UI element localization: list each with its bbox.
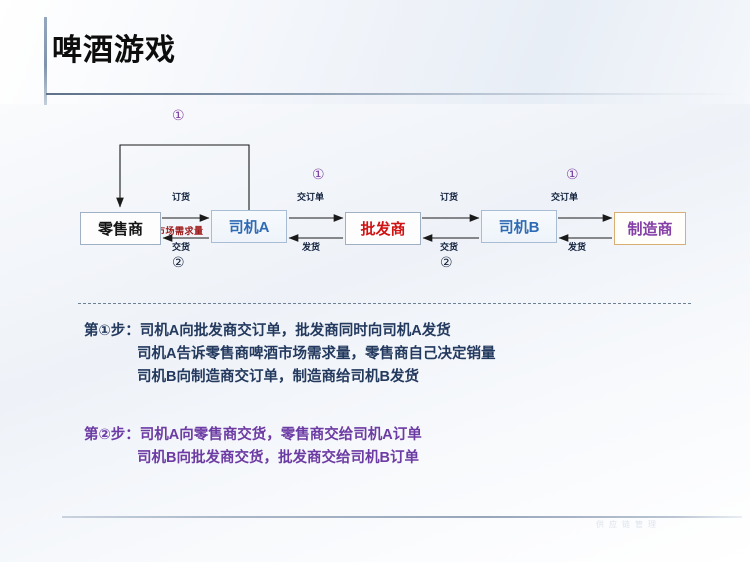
node-driver-b[interactable]: 司机B [481, 210, 557, 243]
arrow-label-driver-a-order-form: 交订单 [297, 190, 324, 203]
node-manufacturer[interactable]: 制造商 [614, 212, 686, 245]
section-divider [78, 303, 691, 304]
slide-canvas: 啤酒游戏 [0, 0, 750, 562]
node-wholesaler[interactable]: 批发商 [345, 212, 421, 245]
footer-watermark: 供应链管理 [596, 519, 661, 530]
step-two-block: 第②步：司机A向零售商交货，零售商交给司机A订单 司机B向批发商交货，批发商交给… [84, 424, 422, 470]
step-marker-deliver-b-two: ② [440, 255, 453, 271]
arrow-label-wholesaler-order: 订货 [440, 190, 458, 203]
arrow-label-retailer-order: 订货 [172, 190, 190, 203]
step-two-text-1: 司机A向零售商交货，零售商交给司机A订单 [140, 427, 422, 443]
step-marker-order-b-one: ① [566, 167, 579, 183]
step-marker-demand-one: ① [172, 108, 185, 124]
step-one-line-1: 第①步：司机A向批发商交订单，批发商同时向司机A发货 [84, 320, 495, 343]
arrow-label-retailer-delivery: 交货 [172, 240, 190, 253]
step-one-text-1: 司机A向批发商交订单，批发商同时向司机A发货 [140, 323, 451, 339]
page-title: 啤酒游戏 [52, 25, 176, 69]
node-retailer[interactable]: 零售商 [80, 212, 161, 245]
step-one-line-2: 司机A告诉零售商啤酒市场需求量，零售商自己决定销量 [84, 343, 495, 366]
step-two-line-1: 第②步：司机A向零售商交货，零售商交给司机A订单 [84, 424, 422, 447]
step-one-block: 第①步：司机A向批发商交订单，批发商同时向司机A发货 司机A告诉零售商啤酒市场需… [84, 320, 495, 389]
arrow-label-driver-b-order-form: 交订单 [551, 190, 578, 203]
footer-divider [62, 516, 742, 518]
step-marker-deliver-a-two: ② [172, 255, 185, 271]
arrow-label-wholesaler-delivery: 交货 [440, 240, 458, 253]
step-marker-order-a-one: ① [312, 167, 325, 183]
title-divider [46, 93, 746, 95]
step-two-line-2: 司机B向批发商交货，批发商交给司机B订单 [84, 447, 422, 470]
supply-chain-diagram: ① 啤酒市场需求量 ① ① ② ② 订货 交货 交订单 发货 订货 交货 交订单… [0, 100, 750, 300]
step-two-heading: 第②步： [84, 427, 140, 443]
arrow-label-manufacturer-shipment: 发货 [568, 240, 586, 253]
title-accent-bar [44, 17, 47, 105]
step-one-line-3: 司机B向制造商交订单，制造商给司机B发货 [84, 366, 495, 389]
node-driver-a[interactable]: 司机A [211, 210, 287, 243]
diagram-connectors [0, 100, 750, 300]
step-one-heading: 第①步： [84, 323, 140, 339]
arrow-label-wholesaler-shipment: 发货 [302, 240, 320, 253]
